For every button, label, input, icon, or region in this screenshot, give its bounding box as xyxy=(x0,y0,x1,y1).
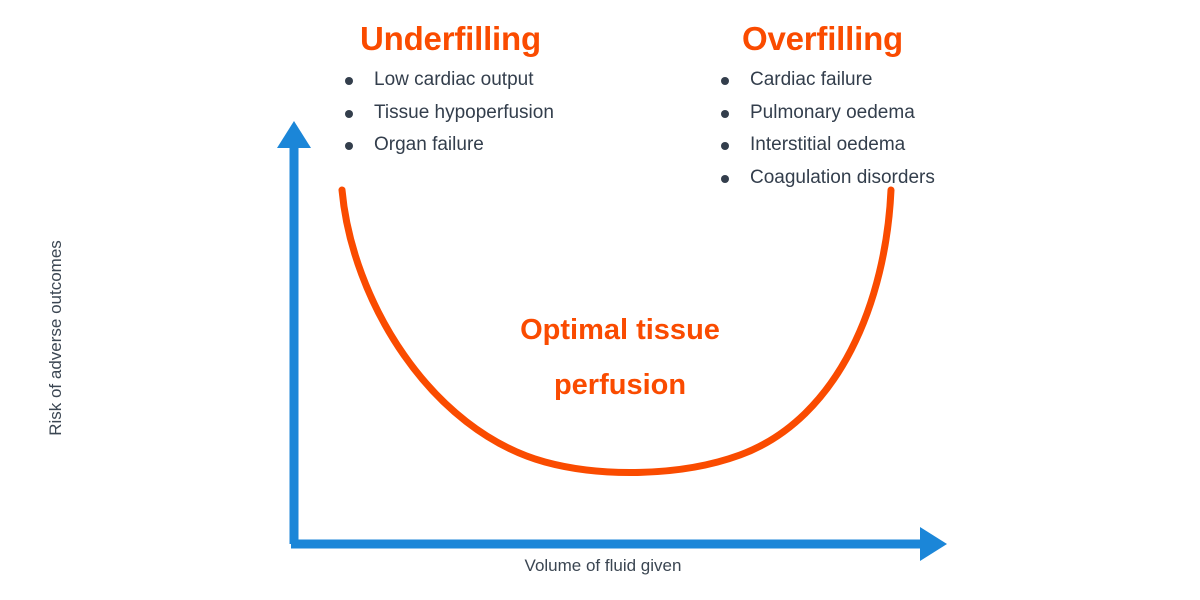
x-axis-arrowhead-icon xyxy=(920,527,947,561)
y-axis-title: Risk of adverse outcomes xyxy=(46,193,66,483)
x-axis-title: Volume of fluid given xyxy=(393,556,813,576)
figure-canvas: Underfilling Overfilling Low cardiac out… xyxy=(0,0,1200,600)
y-axis-arrowhead-icon xyxy=(277,121,311,148)
optimal-perfusion-label: Optimal tissue perfusion xyxy=(440,303,800,413)
optimal-perfusion-label-line1: Optimal tissue xyxy=(440,303,800,358)
optimal-perfusion-label-line2: perfusion xyxy=(440,358,800,413)
chart-plot xyxy=(0,0,1200,600)
